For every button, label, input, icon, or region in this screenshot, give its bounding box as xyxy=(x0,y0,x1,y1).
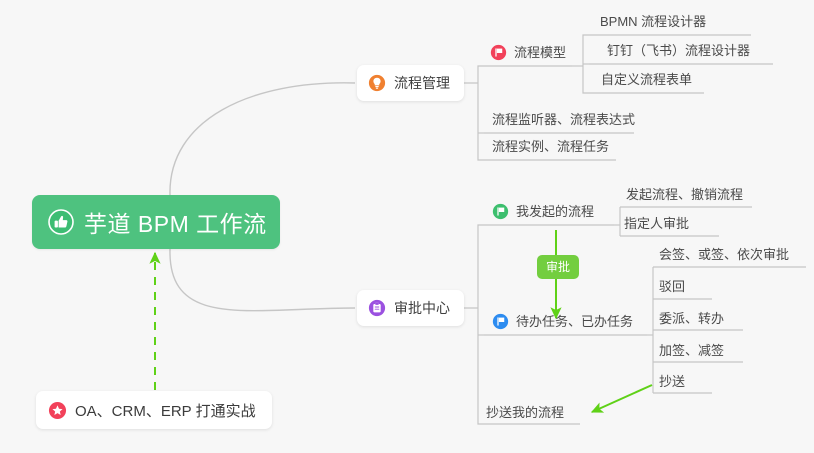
topic-label-todo-done-tasks: 待办任务、已办任务 xyxy=(516,313,633,330)
edge-pm-model-trunk xyxy=(583,35,589,93)
topic-label-process-model: 流程模型 xyxy=(514,44,566,61)
branch-card-process-management[interactable]: 流程管理 xyxy=(357,65,464,101)
flag-icon xyxy=(490,44,507,61)
topic-label-reject: 驳回 xyxy=(659,278,685,295)
topic-label-delegate-transfer: 委派、转办 xyxy=(659,310,724,327)
branch-label-process-management: 流程管理 xyxy=(394,73,450,93)
topic-bpmn-designer[interactable]: BPMN 流程设计器 xyxy=(600,13,706,34)
topic-start-cancel-process[interactable]: 发起流程、撤销流程 xyxy=(626,186,743,207)
topic-process-instance[interactable]: 流程实例、流程任务 xyxy=(492,138,609,159)
topic-dingtalk-designer[interactable]: 钉钉（飞书）流程设计器 xyxy=(607,42,750,63)
topic-label-countersign: 会签、或签、依次审批 xyxy=(659,246,789,263)
branch-card-approval-center[interactable]: 审批中心 xyxy=(357,290,464,326)
edge-root-to-approval-center xyxy=(170,249,355,311)
lightbulb-icon xyxy=(368,74,386,92)
integration-note-label: OA、CRM、ERP 打通实战 xyxy=(75,400,256,421)
topic-label-process-listener: 流程监听器、流程表达式 xyxy=(492,111,635,128)
clipboard-icon xyxy=(368,299,386,317)
topic-label-carbon-copy: 抄送 xyxy=(659,373,685,390)
thumbs-up-icon xyxy=(48,209,74,235)
star-icon xyxy=(48,401,67,420)
topic-assignee-approval[interactable]: 指定人审批 xyxy=(624,215,689,236)
topic-label-custom-form: 自定义流程表单 xyxy=(601,71,692,88)
topic-todo-done-tasks[interactable]: 待办任务、已办任务 xyxy=(492,313,633,334)
edge-pm-trunk xyxy=(478,66,484,160)
root-node[interactable]: 芋道 BPM 工作流 xyxy=(32,195,280,249)
topic-reject[interactable]: 驳回 xyxy=(659,278,685,299)
topic-countersign[interactable]: 会签、或签、依次审批 xyxy=(659,246,789,267)
approval-callout-label: 审批 xyxy=(546,260,570,274)
topic-delegate-transfer[interactable]: 委派、转办 xyxy=(659,310,724,331)
topic-label-dingtalk-designer: 钉钉（飞书）流程设计器 xyxy=(607,42,750,59)
approval-callout[interactable]: 审批 xyxy=(537,255,579,279)
topic-label-assignee-approval: 指定人审批 xyxy=(624,215,689,232)
topic-label-my-started-process: 我发起的流程 xyxy=(516,203,594,220)
topic-cc-to-me[interactable]: 抄送我的流程 xyxy=(486,404,564,425)
root-label: 芋道 BPM 工作流 xyxy=(84,205,267,239)
flag-icon xyxy=(492,203,509,220)
topic-label-start-cancel-process: 发起流程、撤销流程 xyxy=(626,186,743,203)
topic-process-model[interactable]: 流程模型 xyxy=(490,44,566,65)
branch-label-approval-center: 审批中心 xyxy=(394,298,450,318)
edge-root-to-process-management xyxy=(170,83,355,195)
edge-ac-trunk xyxy=(478,225,484,424)
flag-icon xyxy=(492,313,509,330)
mindmap-canvas: 芋道 BPM 工作流 OA、CRM、ERP 打通实战 流程管理 xyxy=(0,0,814,453)
topic-process-listener[interactable]: 流程监听器、流程表达式 xyxy=(492,111,635,132)
topic-label-process-instance: 流程实例、流程任务 xyxy=(492,138,609,155)
topic-custom-form[interactable]: 自定义流程表单 xyxy=(601,71,692,92)
topic-carbon-copy[interactable]: 抄送 xyxy=(659,373,685,394)
integration-note-card[interactable]: OA、CRM、ERP 打通实战 xyxy=(36,391,272,429)
topic-label-cc-to-me: 抄送我的流程 xyxy=(486,404,564,421)
topic-label-bpmn-designer: BPMN 流程设计器 xyxy=(600,13,706,30)
topic-label-add-remove-sign: 加签、减签 xyxy=(659,342,724,359)
topic-my-started-process[interactable]: 我发起的流程 xyxy=(492,203,594,224)
topic-add-remove-sign[interactable]: 加签、减签 xyxy=(659,342,724,363)
carbon-copy-arrow xyxy=(592,385,652,412)
